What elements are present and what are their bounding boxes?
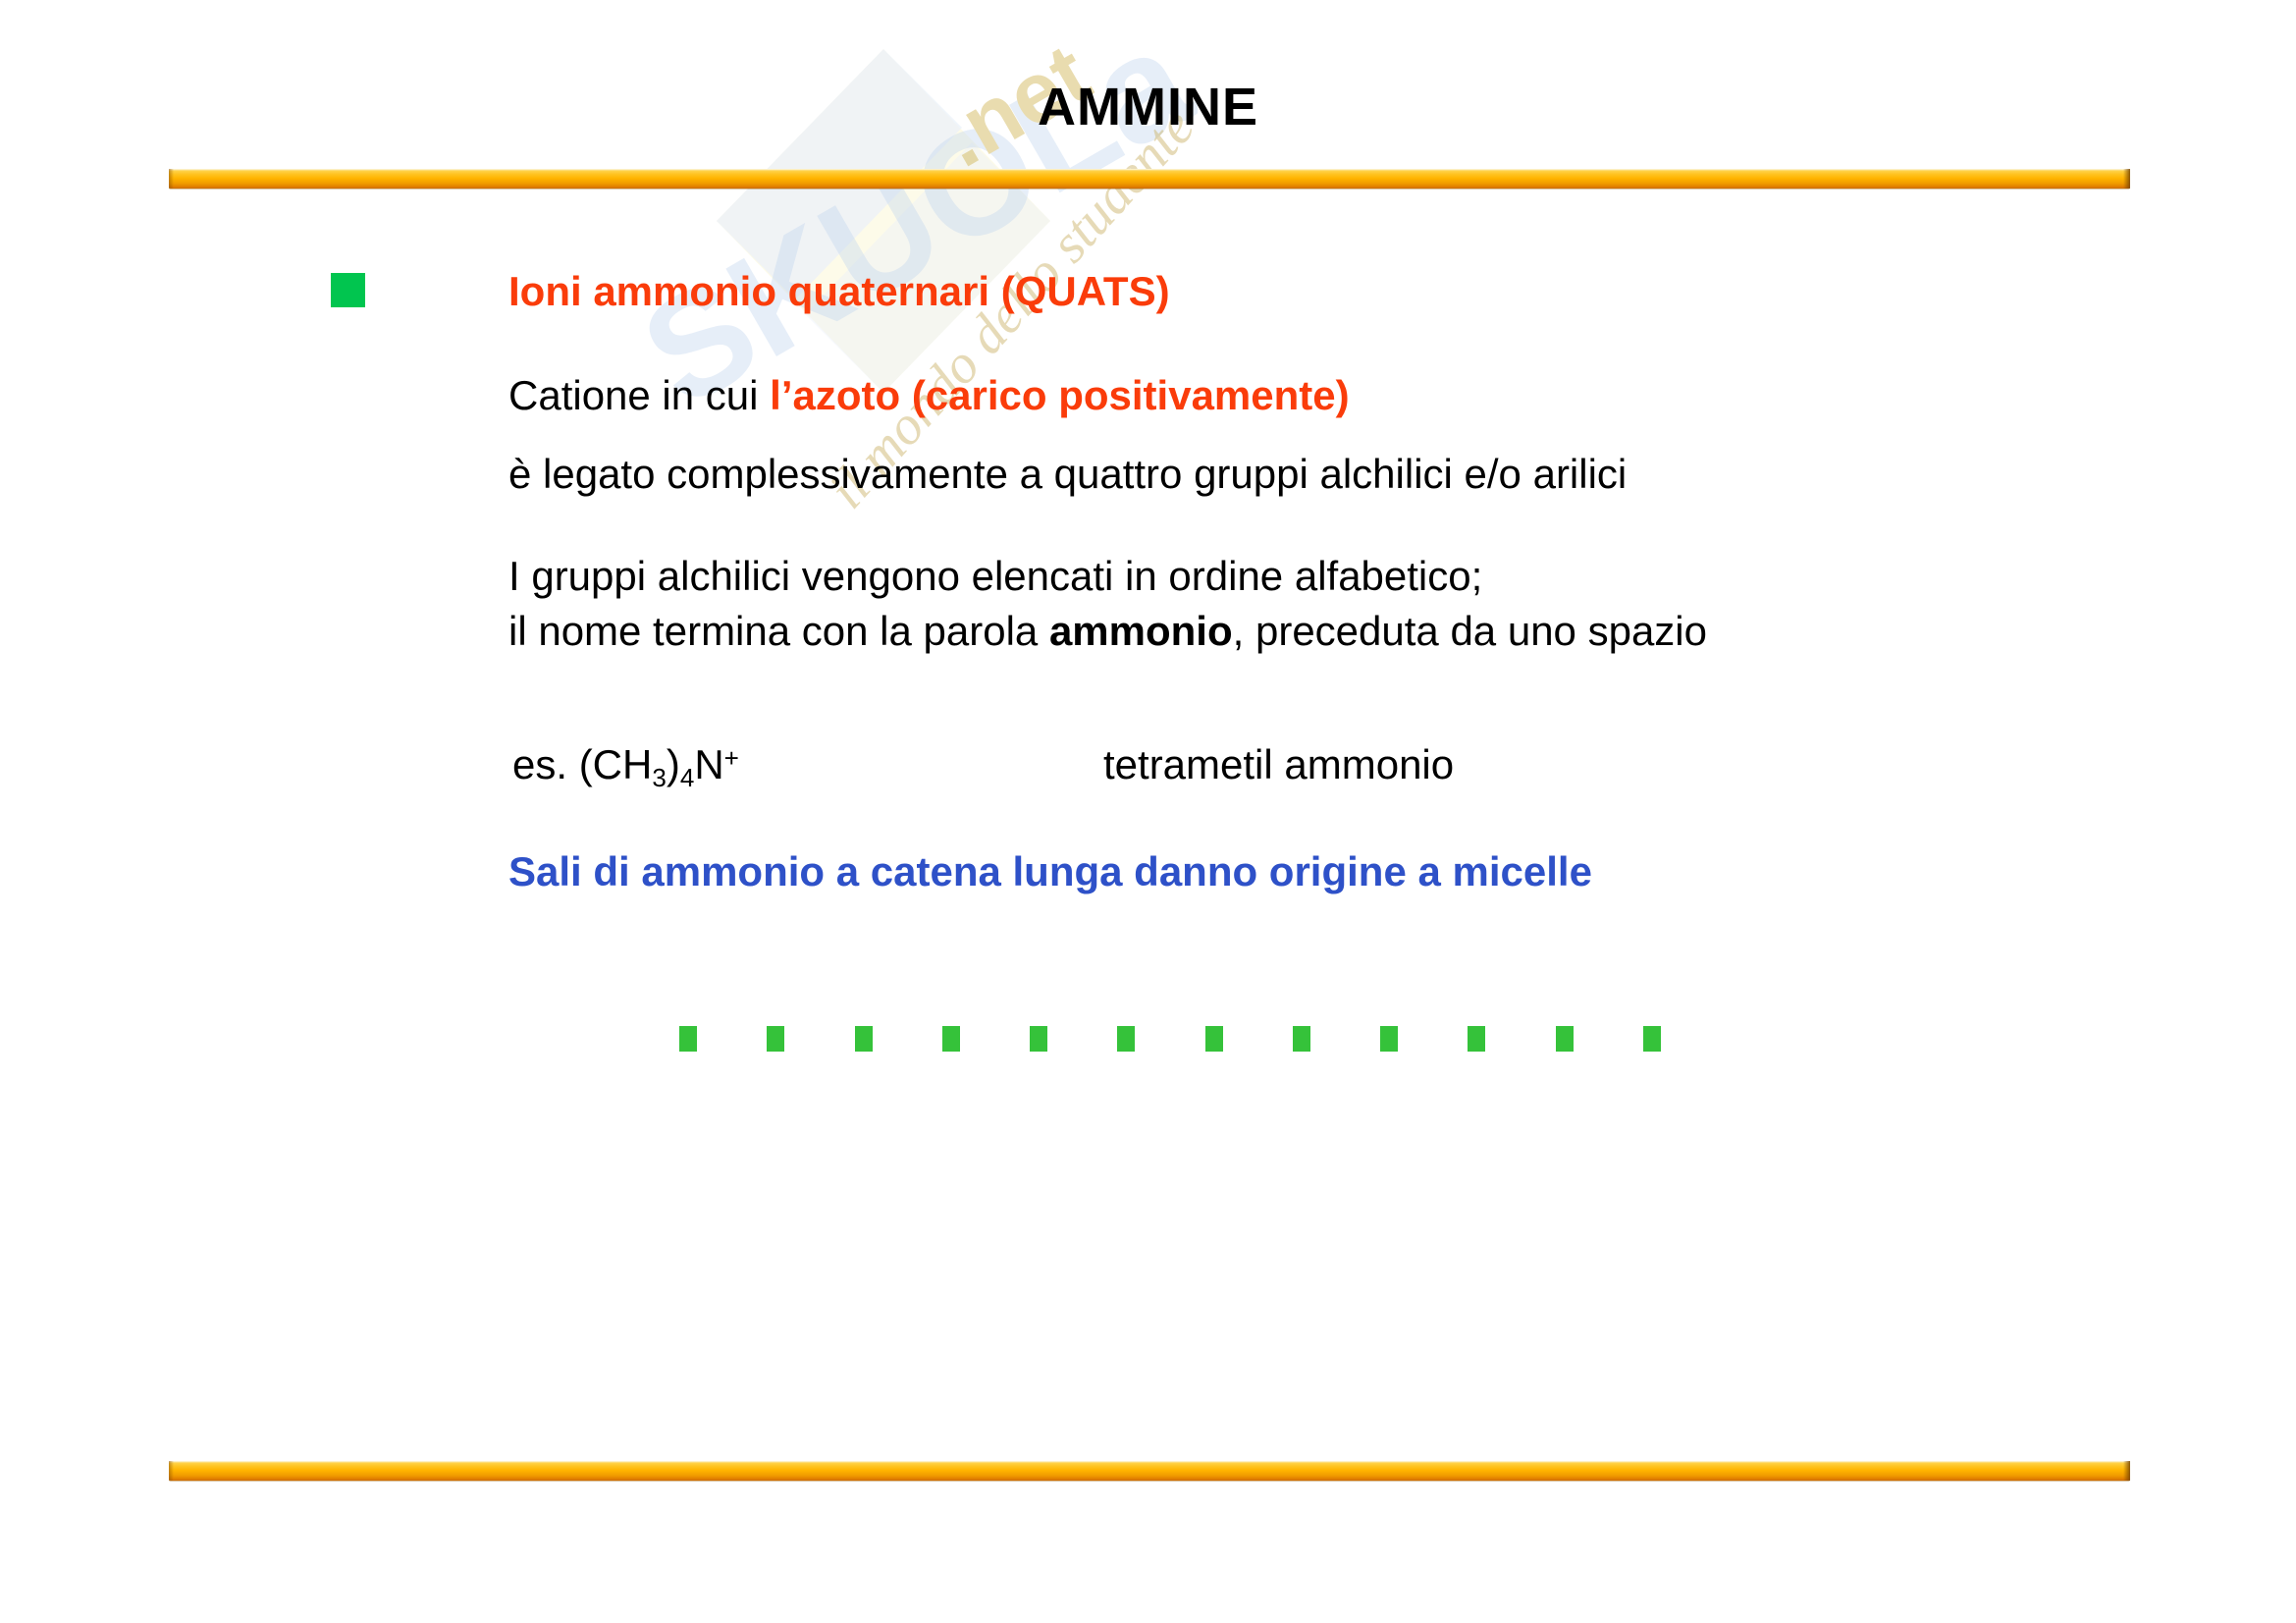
green-square-marker <box>1205 1026 1223 1052</box>
green-square-marker <box>1030 1026 1047 1052</box>
formula-mid: ) <box>667 741 680 787</box>
green-square-decoration-row <box>679 1024 1661 1054</box>
top-divider-rule <box>169 169 2130 189</box>
green-square-marker <box>1293 1026 1310 1052</box>
chemical-formula: es. (CH3)4N+ <box>512 743 739 786</box>
green-square-marker <box>1468 1026 1485 1052</box>
formula-name-label: tetrametil ammonio <box>1103 743 1454 786</box>
green-square-marker <box>679 1026 697 1052</box>
text-line-legato: è legato complessivamente a quattro grup… <box>508 453 1627 496</box>
slide-body: Ioni ammonio quaternari (QUATS) Catione … <box>0 0 2296 1623</box>
green-square-marker <box>855 1026 873 1052</box>
formula-element-n: N <box>694 741 723 787</box>
text-line-micelle: Sali di ammonio a catena lunga danno ori… <box>508 850 1592 893</box>
slide-canvas: SKUOLa .net il mondo dello studente AMMI… <box>0 0 2296 1623</box>
text-line-nome: il nome termina con la parola ammonio, p… <box>508 610 1707 653</box>
green-square-marker <box>942 1026 960 1052</box>
formula-prefix: es. (CH <box>512 741 652 787</box>
formula-charge-plus: + <box>724 743 739 773</box>
nome-after-text: , preceduta da uno spazio <box>1233 608 1707 654</box>
formula-subscript-4: 4 <box>680 763 694 792</box>
text-line-gruppi: I gruppi alchilici vengono elencati in o… <box>508 555 1482 598</box>
catione-highlight-text: l’azoto (carico positivamente) <box>770 372 1349 418</box>
green-square-marker <box>1380 1026 1398 1052</box>
bottom-divider-rule <box>169 1461 2130 1481</box>
green-square-marker <box>1643 1026 1661 1052</box>
green-square-marker <box>1556 1026 1574 1052</box>
section-heading: Ioni ammonio quaternari (QUATS) <box>508 270 1170 313</box>
green-square-marker <box>767 1026 784 1052</box>
green-square-marker <box>1117 1026 1135 1052</box>
nome-before-text: il nome termina con la parola <box>508 608 1049 654</box>
catione-plain-text: Catione in cui <box>508 372 770 418</box>
formula-subscript-3: 3 <box>652 763 666 792</box>
nome-bold-word: ammonio <box>1049 608 1233 654</box>
bullet-square-icon <box>331 273 365 307</box>
text-line-catione: Catione in cui l’azoto (carico positivam… <box>508 374 1350 417</box>
